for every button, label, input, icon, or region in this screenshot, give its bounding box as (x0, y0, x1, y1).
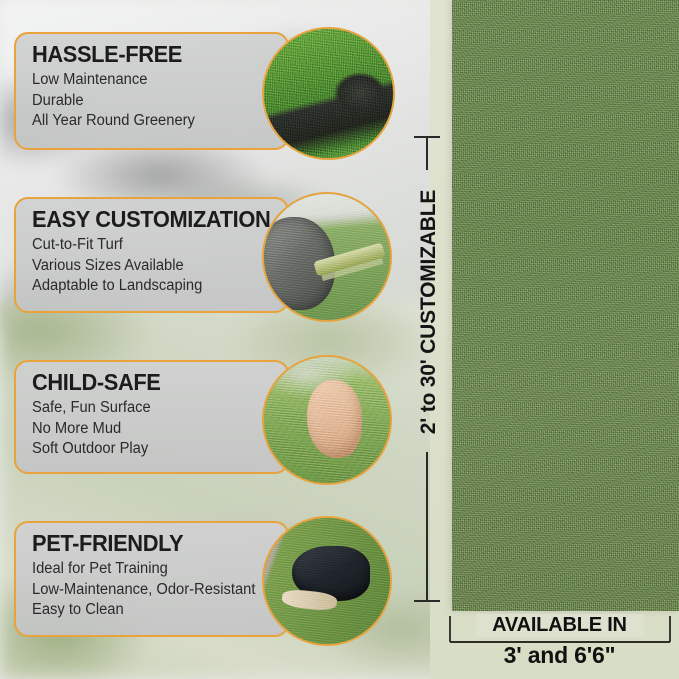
dimension-tick-left (449, 616, 451, 642)
length-dimension-annotation: 2' to 30' CUSTOMIZABLE (404, 0, 450, 611)
feature-card-hassle-free: HASSLE-FREE Low Maintenance Durable All … (14, 32, 289, 150)
feature-thumbnail-child-hand (262, 355, 392, 485)
feature-title: HASSLE-FREE (32, 42, 261, 67)
feature-thumbnail-dog (262, 516, 392, 646)
feature-card-child-safe: CHILD-SAFE Safe, Fun Surface No More Mud… (14, 360, 289, 474)
feature-title: PET-FRIENDLY (32, 531, 261, 556)
feature-line: Ideal for Pet Training (32, 559, 261, 580)
feature-line: Easy to Clean (32, 600, 261, 621)
width-dimension-label-line2: 3' and 6'6" (440, 642, 679, 669)
feature-line: Low Maintenance (32, 70, 261, 91)
feature-line: All Year Round Greenery (32, 111, 261, 132)
feature-line: Cut-to-Fit Turf (32, 235, 261, 256)
feature-line: Low-Maintenance, Odor-Resistant (32, 580, 261, 601)
dimension-tick-right (669, 616, 671, 642)
turf-roll-image (264, 29, 393, 158)
width-dimension-annotation: AVAILABLE IN 3' and 6'6" (440, 612, 679, 679)
feature-line: Various Sizes Available (32, 256, 261, 277)
feature-line: Durable (32, 91, 261, 112)
width-dimension-label-line1: AVAILABLE IN (476, 614, 644, 637)
feature-line: Soft Outdoor Play (32, 439, 261, 460)
feature-thumbnail-installation (262, 192, 392, 322)
feature-title: EASY CUSTOMIZATION (32, 207, 261, 232)
feature-line: Adaptable to Landscaping (32, 276, 261, 297)
feature-line: Safe, Fun Surface (32, 398, 261, 419)
turf-sample-swatch (452, 0, 679, 611)
dog-on-lawn-image (264, 518, 390, 644)
length-dimension-label: 2' to 30' CUSTOMIZABLE (417, 147, 441, 477)
feature-thumbnail-turf-roll (262, 27, 395, 160)
turf-installation-image (264, 194, 390, 320)
feature-line: No More Mud (32, 419, 261, 440)
dimension-cap-bottom (414, 600, 440, 602)
feature-card-pet-friendly: PET-FRIENDLY Ideal for Pet Training Low-… (14, 521, 289, 637)
product-infographic: HASSLE-FREE Low Maintenance Durable All … (0, 0, 679, 679)
child-hand-image (264, 357, 390, 483)
feature-card-easy-customization: EASY CUSTOMIZATION Cut-to-Fit Turf Vario… (14, 197, 289, 313)
feature-title: CHILD-SAFE (32, 370, 261, 395)
